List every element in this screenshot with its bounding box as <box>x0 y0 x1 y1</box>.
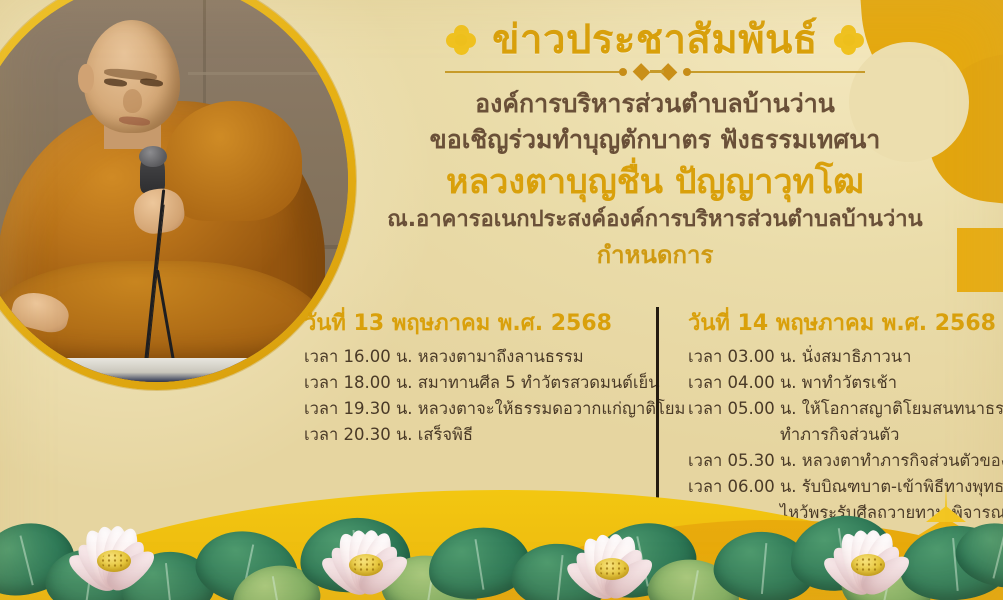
schedule-item-continuation: ทำภารกิจส่วนตัว <box>688 422 1003 448</box>
page-title: ข่าวประชาสัมพันธ์ <box>492 18 818 62</box>
schedule-item: เวลา 20.30 น. เสร็จพิธี <box>304 422 640 448</box>
lotus-flower <box>58 498 170 594</box>
lotus-flower <box>310 502 422 598</box>
schedule-item: เวลา 18.00 น. สมาทานศีล 5 ทำวัตรสวดมนต์เ… <box>304 370 640 396</box>
schedule-item: เวลา 04.00 น. พาทำวัตรเช้า <box>688 370 1003 396</box>
four-petal-flower-left-icon <box>446 25 476 55</box>
day-2-heading: วันที่ 14 พฤษภาคม พ.ศ. 2568 <box>688 305 1003 340</box>
title-row: ข่าวประชาสัมพันธ์ <box>330 18 980 62</box>
organization-name: องค์การบริหารส่วนตำบลบ้านว่าน <box>330 86 980 122</box>
seat-cushion <box>0 358 256 382</box>
monk-ear <box>78 64 93 92</box>
schedule-item: เวลา 05.30 น. หลวงตาทำภารกิจส่วนตัวของท่… <box>688 448 1003 474</box>
lotus-footer-band <box>0 480 1003 600</box>
schedule-item: เวลา 03.00 น. นั่งสมาธิภาวนา <box>688 344 1003 370</box>
title-divider-ornament <box>445 64 865 80</box>
schedule-item: เวลา 05.00 น. ให้โอกาสญาติโยมสนทนาธรรมแล… <box>688 396 1003 422</box>
agenda-label: กำหนดการ <box>330 239 980 273</box>
lotus-flower <box>812 502 924 598</box>
monk-name: หลวงตาบุญชื่น ปัญญาวุทโฒ <box>330 160 980 204</box>
day-1-items: เวลา 16.00 น. หลวงตามาถึงลานธรรม เวลา 18… <box>304 344 640 448</box>
microphone-head-icon <box>139 146 167 167</box>
monk-shoulder <box>165 101 303 222</box>
invitation-text: ขอเชิญร่วมทำบุญตักบาตร ฟังธรรมเทศนา <box>330 122 980 158</box>
four-petal-flower-right-icon <box>834 25 864 55</box>
wall-seam-horizontal <box>188 72 348 75</box>
header-block: ข่าวประชาสัมพันธ์ องค์การบริหารส่วนตำบลบ… <box>330 18 980 272</box>
schedule-item: เวลา 16.00 น. หลวงตามาถึงลานธรรม <box>304 344 640 370</box>
day-1-heading: วันที่ 13 พฤษภาคม พ.ศ. 2568 <box>304 305 640 340</box>
venue-text: ณ.อาคารอเนกประสงค์องค์การบริหารส่วนตำบลบ… <box>330 205 980 235</box>
schedule-item: เวลา 19.30 น. หลวงตาจะให้ธรรมดอวากแก่ญาต… <box>304 396 640 422</box>
lotus-flower <box>556 506 668 600</box>
monk-nose <box>123 89 142 113</box>
poster-root: ข่าวประชาสัมพันธ์ องค์การบริหารส่วนตำบลบ… <box>0 0 1003 600</box>
